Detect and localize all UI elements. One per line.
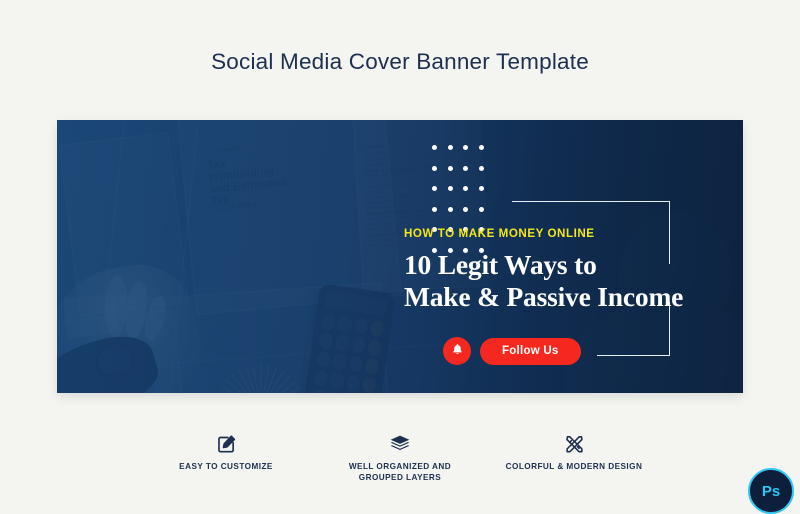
feature-easy-to-customize[interactable]: EASY TO CUSTOMIZE [140,432,312,472]
feature-colorful-modern-design[interactable]: COLORFUL & MODERN DESIGN [488,432,660,472]
banner-canvas: Publication 505 Tax Withholding and Esti… [57,120,743,393]
feature-label: EASY TO CUSTOMIZE [140,461,312,472]
grid-dot [448,207,453,212]
grid-dot [463,186,468,191]
design-tools-icon [488,432,660,456]
follow-us-button[interactable]: Follow Us [480,338,581,365]
cover-banner[interactable]: Publication 505 Tax Withholding and Esti… [57,120,743,393]
grid-dot [432,145,437,150]
grid-dot [448,145,453,150]
feature-label: COLORFUL & MODERN DESIGN [488,461,660,472]
bell-icon [451,343,464,359]
photoshop-badge-label: Ps [762,483,780,500]
grid-dot [448,166,453,171]
layers-icon [314,432,486,456]
grid-dot [432,166,437,171]
banner-eyebrow: HOW TO MAKE MONEY ONLINE [404,228,714,240]
feature-well-organized-layers[interactable]: WELL ORGANIZED AND GROUPED LAYERS [314,432,486,483]
grid-dot [479,145,484,150]
grid-dot [463,207,468,212]
grid-dot [432,207,437,212]
grid-dot [463,145,468,150]
feature-list: EASY TO CUSTOMIZE WELL ORGANIZED AND GRO… [140,432,660,483]
grid-dot [479,186,484,191]
cta-row: Follow Us [443,337,581,365]
feature-label: WELL ORGANIZED AND GROUPED LAYERS [314,461,486,483]
grid-dot [479,166,484,171]
notification-bell-button[interactable] [443,337,471,365]
banner-headline-line2: Make & Passive Income [404,281,714,313]
banner-copy-block: HOW TO MAKE MONEY ONLINE 10 Legit Ways t… [404,228,714,313]
grid-dot [463,166,468,171]
page-title: Social Media Cover Banner Template [0,49,800,75]
grid-dot [479,207,484,212]
edit-square-icon [140,432,312,456]
banner-headline-line1: 10 Legit Ways to [404,249,714,281]
photoshop-icon: Ps [748,468,794,514]
grid-dot [432,186,437,191]
grid-dot [448,186,453,191]
